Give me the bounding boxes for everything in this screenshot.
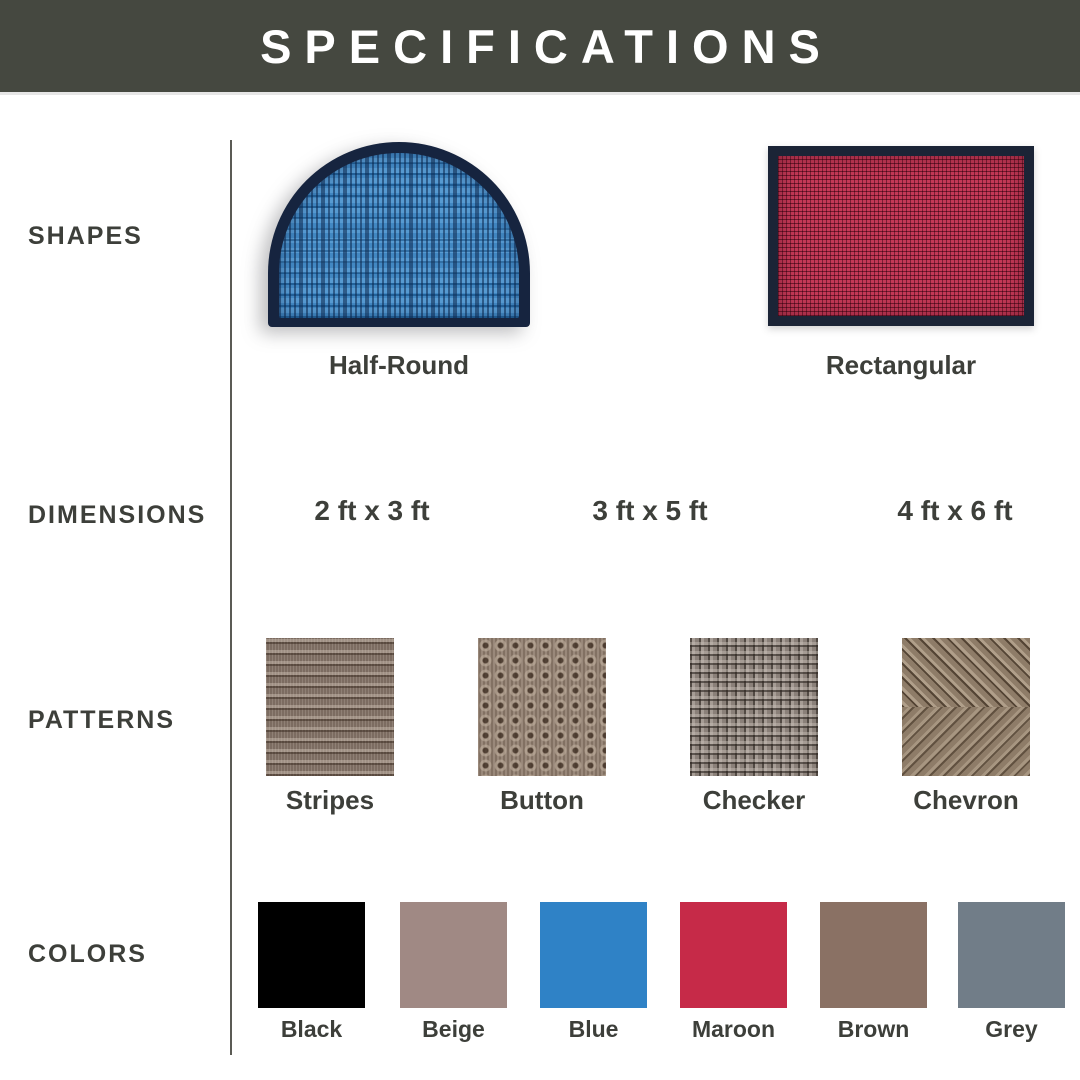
shape-label-rectangular: Rectangular	[768, 350, 1034, 381]
pattern-swatch-stripes	[266, 638, 394, 776]
dimension-value: 4 ft x 6 ft	[835, 495, 1075, 527]
row-label-dimensions: DIMENSIONS	[28, 501, 206, 530]
mat-surface-texture	[279, 153, 519, 318]
mat-image-rectangular	[768, 146, 1034, 326]
dimension-value: 2 ft x 3 ft	[252, 495, 492, 527]
color-label: Black	[258, 1016, 365, 1043]
dimension-value: 3 ft x 5 ft	[530, 495, 770, 527]
mat-surface-texture	[778, 156, 1024, 316]
page-title: SPECIFICATIONS	[247, 23, 833, 70]
pattern-label: Chevron	[902, 785, 1030, 816]
color-swatch-grey	[958, 902, 1065, 1008]
row-label-patterns: PATTERNS	[28, 706, 175, 735]
row-label-shapes: SHAPES	[28, 222, 143, 251]
color-swatch-brown	[820, 902, 927, 1008]
color-label: Grey	[958, 1016, 1065, 1043]
pattern-label: Stripes	[266, 785, 394, 816]
color-item-grey: Grey	[958, 902, 1065, 1043]
shape-label-half-round: Half-Round	[268, 350, 530, 381]
color-item-beige: Beige	[400, 902, 507, 1043]
header-divider	[0, 92, 1080, 95]
header-bar: SPECIFICATIONS	[0, 0, 1080, 92]
color-label: Beige	[400, 1016, 507, 1043]
color-item-blue: Blue	[540, 902, 647, 1043]
vertical-divider	[230, 140, 232, 1055]
row-label-colors: COLORS	[28, 940, 147, 969]
color-label: Brown	[820, 1016, 927, 1043]
color-swatch-beige	[400, 902, 507, 1008]
color-item-brown: Brown	[820, 902, 927, 1043]
mat-image-half-round	[268, 142, 530, 327]
color-item-maroon: Maroon	[680, 902, 787, 1043]
color-item-black: Black	[258, 902, 365, 1043]
color-swatch-blue	[540, 902, 647, 1008]
color-label: Maroon	[680, 1016, 787, 1043]
color-label: Blue	[540, 1016, 647, 1043]
pattern-swatch-button	[478, 638, 606, 776]
pattern-item-button: Button	[478, 638, 606, 816]
pattern-label: Checker	[690, 785, 818, 816]
pattern-item-stripes: Stripes	[266, 638, 394, 816]
pattern-item-checker: Checker	[690, 638, 818, 816]
pattern-swatch-checker	[690, 638, 818, 776]
color-swatch-maroon	[680, 902, 787, 1008]
pattern-item-chevron: Chevron	[902, 638, 1030, 816]
pattern-swatch-chevron	[902, 638, 1030, 776]
color-swatch-black	[258, 902, 365, 1008]
pattern-label: Button	[478, 785, 606, 816]
